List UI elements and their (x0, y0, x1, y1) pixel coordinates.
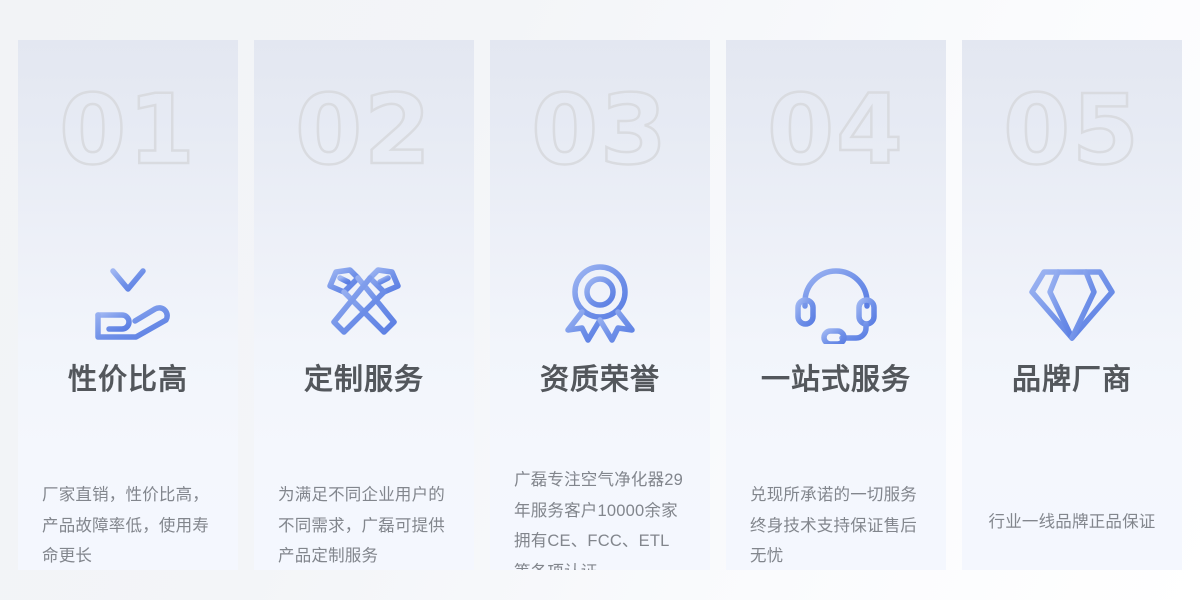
card-description: 为满足不同企业用户的不同需求，广磊可提供产品定制服务 (254, 480, 474, 570)
advantage-card[interactable]: 05 品牌厂商 行业一线品牌正品保证 (962, 40, 1182, 570)
award-medal-icon (490, 262, 710, 346)
card-number-watermark: 04 (726, 82, 946, 178)
advantage-card[interactable]: 02 (254, 40, 474, 570)
card-number-watermark: 05 (962, 82, 1182, 178)
diamond-icon (962, 262, 1182, 346)
crossed-pencils-icon (254, 262, 474, 346)
card-description: 厂家直销，性价比高，产品故障率低，使用寿命更长 (18, 480, 238, 570)
card-title: 一站式服务 (726, 362, 946, 398)
card-description: 行业一线品牌正品保证 (962, 507, 1182, 538)
card-description: 兑现所承诺的一切服务终身技术支持保证售后无忧 (726, 480, 946, 570)
card-title: 定制服务 (254, 362, 474, 398)
card-description: 广磊专注空气净化器29年服务客户10000余家拥有CE、FCC、ETL等各项认证 (490, 465, 710, 570)
hand-holding-yuan-icon (18, 262, 238, 346)
advantages-section: 01 (0, 0, 1200, 600)
card-number-watermark: 01 (18, 82, 238, 178)
headset-icon (726, 262, 946, 346)
advantage-card[interactable]: 01 (18, 40, 238, 570)
card-title: 性价比高 (18, 362, 238, 398)
advantage-card[interactable]: 03 资质荣誉 广磊专注空气净化器29年服务客户100 (490, 40, 710, 570)
card-title: 资质荣誉 (490, 362, 710, 398)
card-title: 品牌厂商 (962, 362, 1182, 398)
advantage-card[interactable]: 04 一站式服务 兑现所承诺的一 (726, 40, 946, 570)
card-number-watermark: 02 (254, 82, 474, 178)
card-number-watermark: 03 (490, 82, 710, 178)
